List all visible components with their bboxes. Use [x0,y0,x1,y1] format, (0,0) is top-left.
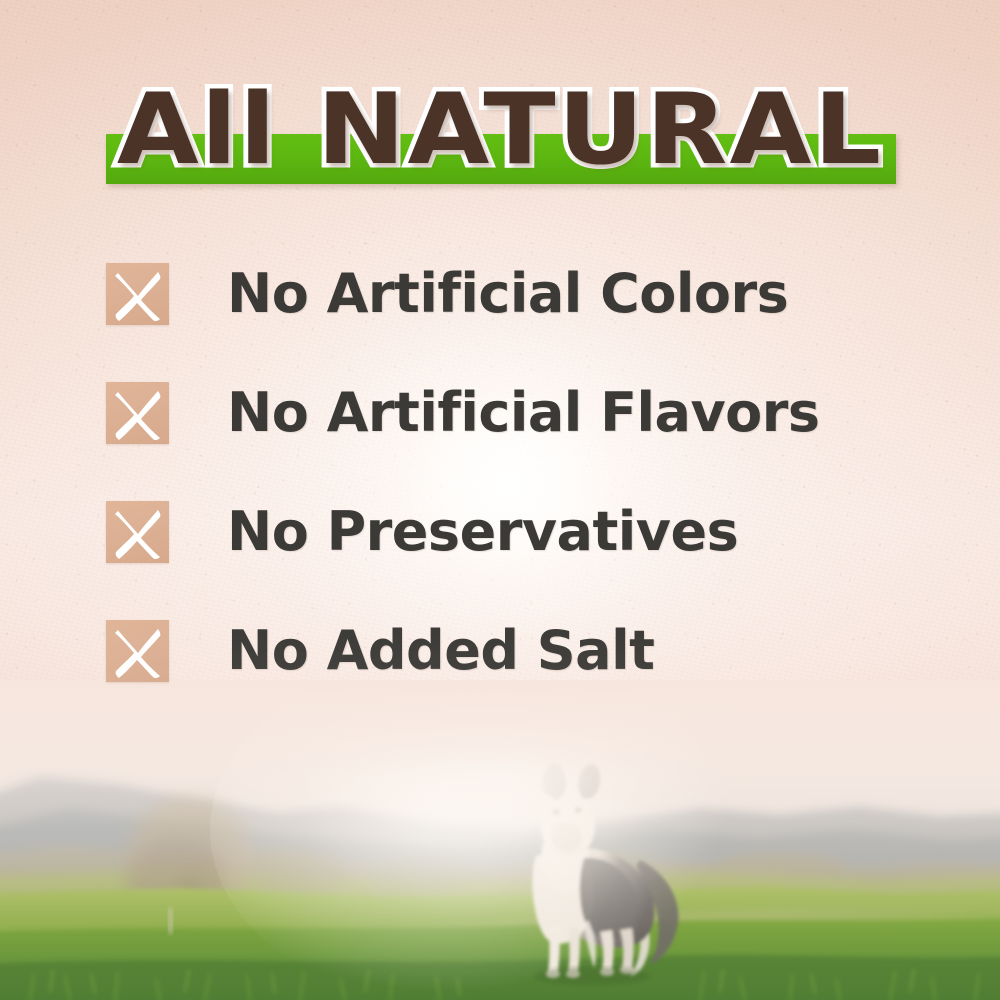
x-mark-icon [106,382,169,444]
benefit-checklist: No Artificial Colors No Artificial Flavo… [106,262,946,683]
checklist-item-label: No Added Salt [227,623,654,679]
checklist-item-label: No Artificial Flavors [227,385,820,441]
checklist-item-no-artificial-flavors: No Artificial Flavors [106,381,946,445]
checklist-item-no-added-salt: No Added Salt [106,619,946,683]
checklist-item-label: No Preservatives [227,504,738,560]
all-natural-feature-panel: All NATURAL No Artificial Colors No Arti… [0,0,1000,1000]
checklist-item-no-preservatives: No Preservatives [106,500,946,564]
x-mark-icon [106,620,169,682]
x-mark-icon [106,501,169,563]
headline: All NATURAL [0,78,1000,194]
dog-in-field-photo [0,680,1000,1000]
x-mark-icon [106,263,169,325]
page-title: All NATURAL [0,78,1000,182]
checklist-item-label: No Artificial Colors [227,266,788,322]
checklist-item-no-artificial-colors: No Artificial Colors [106,262,946,326]
